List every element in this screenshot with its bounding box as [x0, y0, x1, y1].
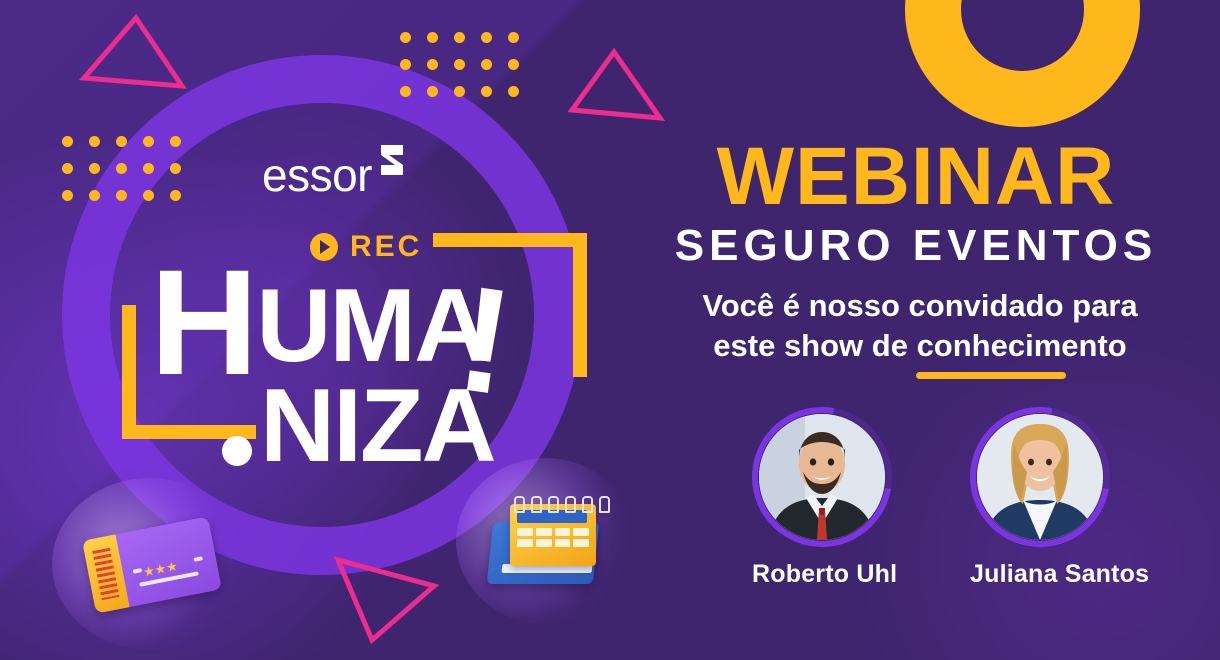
speaker-name: Juliana Santos: [970, 560, 1110, 589]
calendar-orb: [456, 458, 636, 624]
calendar-day: [573, 539, 589, 547]
calendar-day: [536, 528, 552, 536]
calendar-day: [573, 528, 589, 536]
invite-line-2: este show de conhecimento: [650, 326, 1190, 366]
humaniza-uma: UMA: [256, 274, 487, 378]
humaniza-wordmark: H UMA NIZA: [150, 262, 495, 478]
calendar-day-grid: [517, 528, 589, 547]
essor-logo-text: essor: [262, 152, 372, 198]
humaniza-letter-h: H: [150, 262, 254, 382]
speaker-avatar-ring: [759, 414, 885, 540]
calendar-3d-icon: [490, 494, 602, 586]
speaker-list: Roberto Uhl: [670, 414, 1192, 589]
speaker-card: Roberto Uhl: [752, 414, 892, 589]
speaker-card: Juliana Santos: [970, 414, 1110, 589]
webinar-banner: essor REC H UMA NIZA: [0, 0, 1220, 660]
calendar-ring: [582, 496, 593, 513]
play-circle-icon: [310, 233, 338, 261]
calendar-ring: [531, 496, 542, 513]
woman-in-blazer-avatar: [977, 414, 1103, 540]
speaker-name: Roberto Uhl: [752, 560, 892, 589]
humaniza-line-1: H UMA: [150, 262, 495, 382]
calendar-day: [555, 528, 571, 536]
calendar-ring: [565, 496, 576, 513]
calendar-day: [555, 539, 571, 547]
s-monogram-icon: [377, 141, 407, 198]
calendar-day: [517, 528, 533, 536]
calendar-day: [517, 539, 533, 547]
invite-line-1: Você é nosso convidado para: [650, 286, 1190, 326]
rec-label: REC: [350, 232, 422, 262]
calendar-day: [536, 539, 552, 547]
man-in-suit-avatar: [759, 414, 885, 540]
brand-panel: essor REC H UMA NIZA: [0, 0, 640, 660]
calendar-ring: [548, 496, 559, 513]
webinar-subtitle: SEGURO EVENTOS: [640, 224, 1192, 268]
ticket-orb: ★★★: [52, 478, 248, 650]
speaker-avatar-ring: [977, 414, 1103, 540]
invite-text: Você é nosso convidado para este show de…: [650, 286, 1190, 365]
calendar-ring: [514, 496, 525, 513]
webinar-title: WEBINAR: [640, 136, 1192, 218]
calendar-ring: [599, 496, 610, 513]
message-panel: WEBINAR SEGURO EVENTOS Você é nosso conv…: [640, 0, 1220, 660]
humaniza-dot-icon: [222, 436, 252, 466]
rec-badge: REC: [310, 232, 422, 262]
calendar-page: [510, 504, 596, 566]
calendar-rings: [514, 496, 610, 513]
yellow-divider: [916, 372, 1066, 379]
essor-logo: essor: [262, 152, 407, 198]
